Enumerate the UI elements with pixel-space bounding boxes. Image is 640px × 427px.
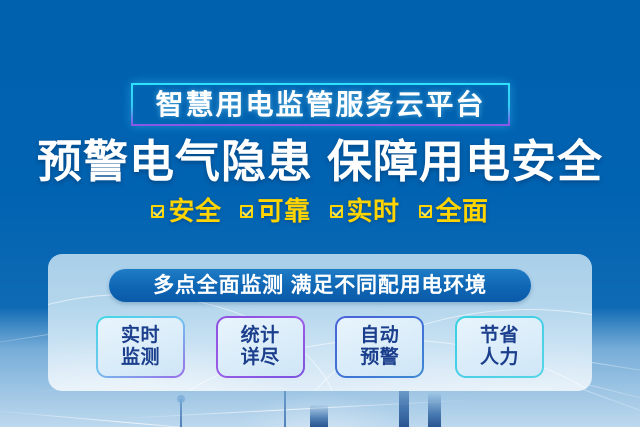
feature-box-save-manpower[interactable]: 节省 人力 (455, 316, 544, 378)
platform-title-frame: 智慧用电监管服务云平台 (131, 83, 510, 126)
checkbox-checked-icon (419, 205, 432, 218)
feature-box-line2: 监测 (121, 348, 160, 369)
panel-headline-pill: 多点全面监测 满足不同配用电环境 (109, 269, 531, 302)
platform-title-text: 智慧用电监管服务云平台 (155, 91, 485, 119)
feature-tag-label: 全面 (436, 198, 489, 224)
feature-box-list: 实时 监测 统计 详尽 自动 预警 节省 人力 (96, 316, 544, 378)
monitoring-panel: 多点全面监测 满足不同配用电环境 实时 监测 统计 详尽 自动 预警 (48, 254, 592, 391)
feature-box-inner: 实时 监测 (98, 318, 183, 376)
tower-silhouette (310, 405, 328, 427)
feature-tag-label: 实时 (347, 198, 400, 224)
feature-box-inner: 节省 人力 (457, 318, 542, 376)
poster-canvas: 智慧用电监管服务云平台 预警电气隐患保障用电安全 安全 可靠 实时 全面 (0, 0, 640, 427)
feature-box-realtime-monitoring[interactable]: 实时 监测 (96, 316, 185, 378)
checkbox-checked-icon (151, 205, 164, 218)
streetlight-pole (180, 399, 182, 427)
feature-box-inner: 自动 预警 (337, 318, 422, 376)
feature-tag-label: 可靠 (257, 198, 310, 224)
feature-box-line2: 详尽 (241, 348, 280, 369)
feature-tag: 安全 (151, 198, 221, 224)
headline-right: 保障用电安全 (327, 136, 603, 187)
feature-tag: 可靠 (240, 198, 310, 224)
feature-box-line1: 自动 (360, 326, 399, 347)
checkbox-checked-icon (330, 205, 343, 218)
streetlight-pole (284, 385, 286, 427)
feature-tag-list: 安全 可靠 实时 全面 (0, 198, 640, 224)
feature-tag: 全面 (419, 198, 489, 224)
light-trail (0, 410, 289, 427)
feature-box-line2: 预警 (360, 348, 399, 369)
feature-box-line1: 节省 (480, 326, 519, 347)
feature-box-line1: 统计 (241, 326, 280, 347)
tower-silhouette (428, 393, 441, 427)
feature-box-detailed-statistics[interactable]: 统计 详尽 (216, 316, 305, 378)
feature-box-auto-alarm[interactable]: 自动 预警 (335, 316, 424, 378)
checkbox-checked-icon (240, 205, 253, 218)
feature-box-inner: 统计 详尽 (218, 318, 303, 376)
feature-tag-label: 安全 (168, 198, 221, 224)
feature-box-line1: 实时 (121, 326, 160, 347)
feature-tag: 实时 (330, 198, 400, 224)
light-trail (120, 399, 480, 419)
feature-box-line2: 人力 (480, 348, 519, 369)
headline-left: 预警电气隐患 (37, 136, 313, 187)
headline: 预警电气隐患保障用电安全 (0, 139, 640, 185)
panel-headline-text: 多点全面监测 满足不同配用电环境 (153, 275, 487, 296)
